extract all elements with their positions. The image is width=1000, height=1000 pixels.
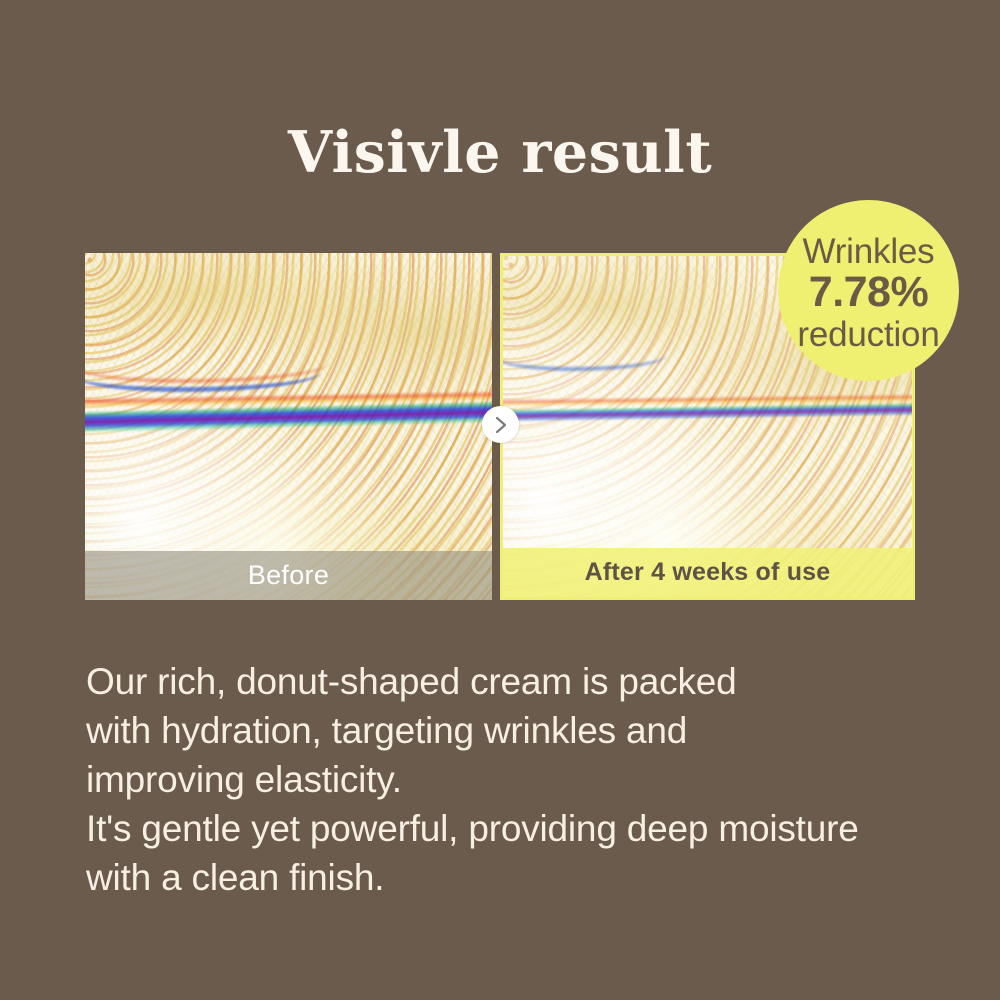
badge-metric-value: 7.78% <box>766 271 971 314</box>
after-caption-label: After 4 weeks of use <box>585 558 831 587</box>
after-caption-band: After 4 weeks of use <box>503 548 912 597</box>
badge-text-block: Wrinkles 7.78% reduction <box>766 234 971 352</box>
description-line: with a clean finish. <box>86 853 966 902</box>
wrinkle-reduction-badge: Wrinkles 7.78% reduction <box>778 200 959 381</box>
skin-micrograph-before-image <box>85 253 492 600</box>
description-line: It's gentle yet powerful, providing deep… <box>86 804 966 853</box>
before-caption-label: Before <box>248 560 329 591</box>
page-title: Visivle result <box>0 119 1000 187</box>
chevron-right-icon <box>493 415 508 435</box>
product-result-panel: Visivle result Before After 4 weeks of u… <box>0 0 1000 1000</box>
badge-metric-label: Wrinkles <box>766 234 971 269</box>
badge-metric-unit: reduction <box>766 317 971 352</box>
description-line: with hydration, targeting wrinkles and <box>86 706 966 755</box>
product-description: Our rich, donut-shaped cream is packed w… <box>86 657 966 902</box>
before-caption-band: Before <box>85 551 492 600</box>
description-line: improving elasticity. <box>86 755 966 804</box>
compare-slider-handle[interactable] <box>482 406 519 443</box>
before-image-panel[interactable]: Before <box>85 253 492 600</box>
description-line: Our rich, donut-shaped cream is packed <box>86 657 966 706</box>
